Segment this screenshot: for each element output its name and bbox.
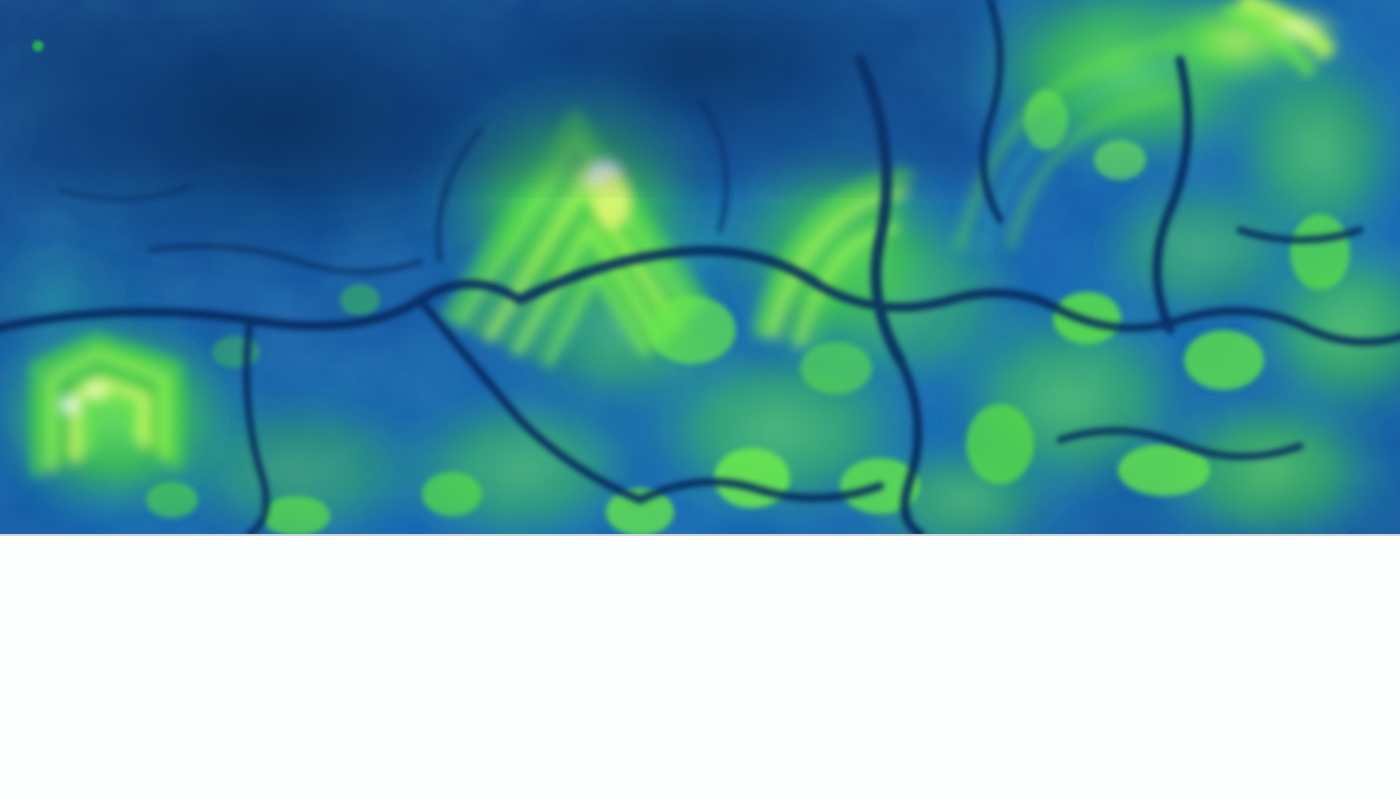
cathodoluminescence-mineral-image — [0, 0, 1400, 534]
mineral-photo-graphic — [0, 0, 1400, 534]
branding-footer: EGU Division Geochemistry, Mineralogy, P… — [0, 536, 1400, 800]
social-card-canvas: EGU Division Geochemistry, Mineralogy, P… — [0, 0, 1400, 800]
